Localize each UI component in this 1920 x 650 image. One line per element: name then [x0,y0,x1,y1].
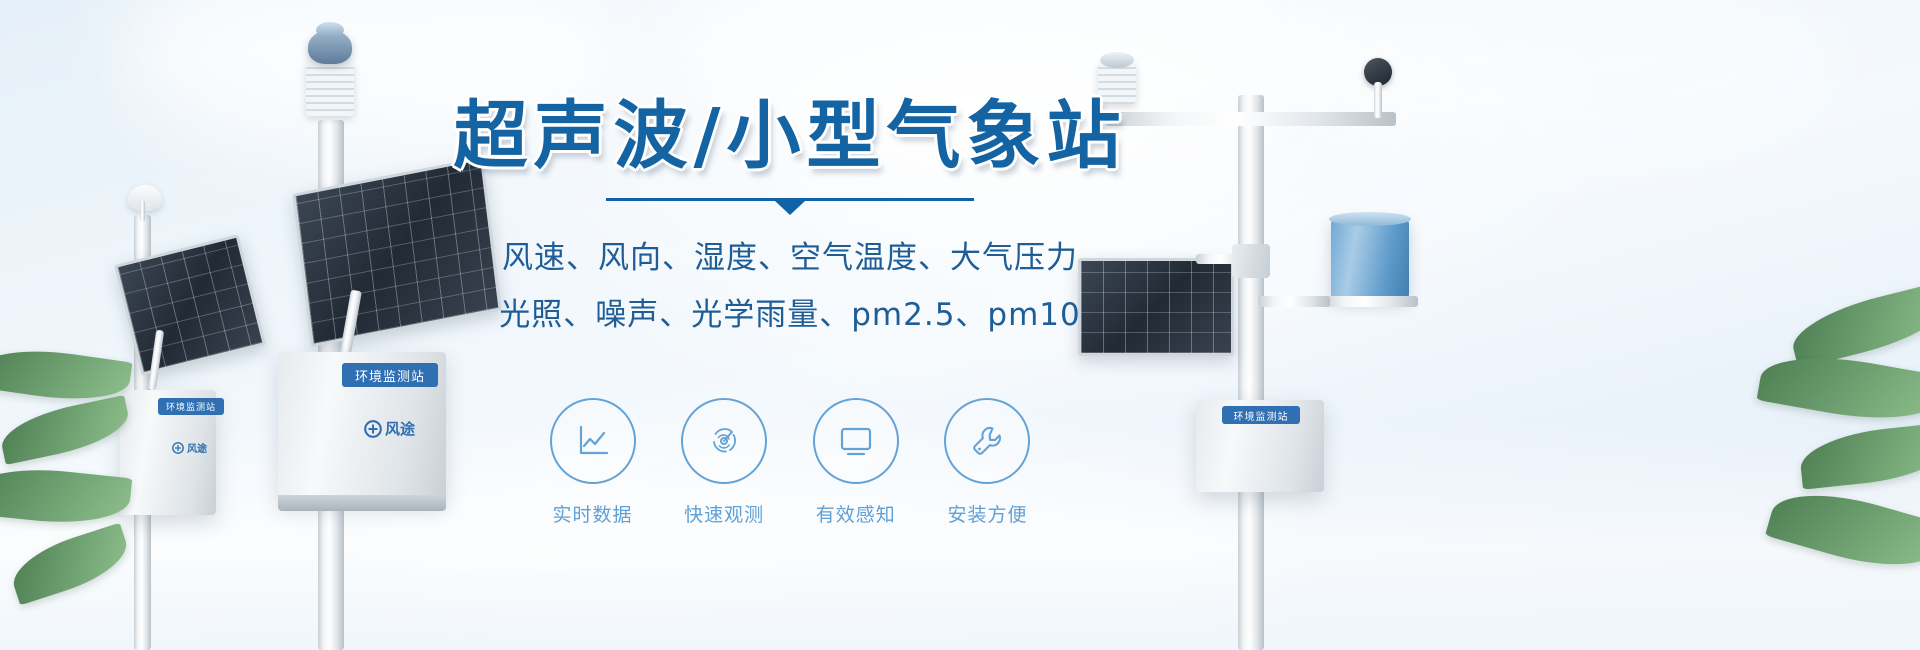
brand-logo-center: 风途 [364,418,415,439]
feature-list: 实时数据 快速观测 [540,398,1040,527]
rain-gauge-rim [1329,212,1411,226]
feature-label: 快速观测 [672,500,777,527]
divider-triangle-icon [775,201,805,215]
feature-item-realtime-data[interactable]: 实时数据 [540,398,645,527]
brand-mark-icon [172,442,184,454]
brand-logo-left: 风途 [172,440,207,455]
feature-label: 有效感知 [803,500,908,527]
leaf [1786,281,1920,368]
subtitle-line-2: 光照、噪声、光学雨量、pm2.5、pm10 [430,289,1150,334]
brand-text-left: 风途 [187,440,207,455]
feature-item-easy-install[interactable]: 安装方便 [935,398,1040,527]
subtitle-line-1: 风速、风向、湿度、空气温度、大气压力 [430,232,1150,277]
feature-icon-circle [813,398,899,484]
radiation-shield [128,185,162,211]
radiation-shield-stack [306,62,354,116]
cabinet-base [278,495,446,511]
brand-mark-icon [364,420,382,438]
camera-stem [1374,82,1382,118]
feature-icon-circle [944,398,1030,484]
wrench-icon [966,420,1008,462]
feature-item-fast-observation[interactable]: 快速观测 [672,398,777,527]
feature-item-effective-sensing[interactable]: 有效感知 [803,398,908,527]
gauge-shelf [1322,296,1418,307]
gauge-arm [1258,296,1330,307]
feature-label: 安装方便 [935,500,1040,527]
headline-block: 超声波/小型气象站 风速、风向、湿度、空气温度、大气压力 光照、噪声、光学雨量、… [430,95,1150,334]
station-sign: 环境监测站 [342,363,438,387]
mast-pole [1238,95,1264,650]
feature-icon-circle [550,398,636,484]
title-divider [606,198,974,216]
radar-scan-icon [704,421,744,461]
line-chart-icon [573,421,613,461]
page-title: 超声波/小型气象站 [430,95,1150,178]
sensor-cap [316,22,344,38]
brand-text-center: 风途 [385,418,415,439]
sensor-cap [1100,52,1134,68]
mast-clamp [1232,244,1270,278]
station-sign: 环境监测站 [158,398,224,415]
feature-label: 实时数据 [540,500,645,527]
station-sign: 环境监测站 [1222,406,1300,424]
feature-icon-circle [681,398,767,484]
cloud-wash-3 [1280,0,1840,160]
shield-stem [140,200,145,222]
product-banner: 环境监测站 风途 环境监测站 风途 [0,0,1920,650]
monitor-icon [835,420,877,462]
rain-gauge [1331,218,1409,300]
